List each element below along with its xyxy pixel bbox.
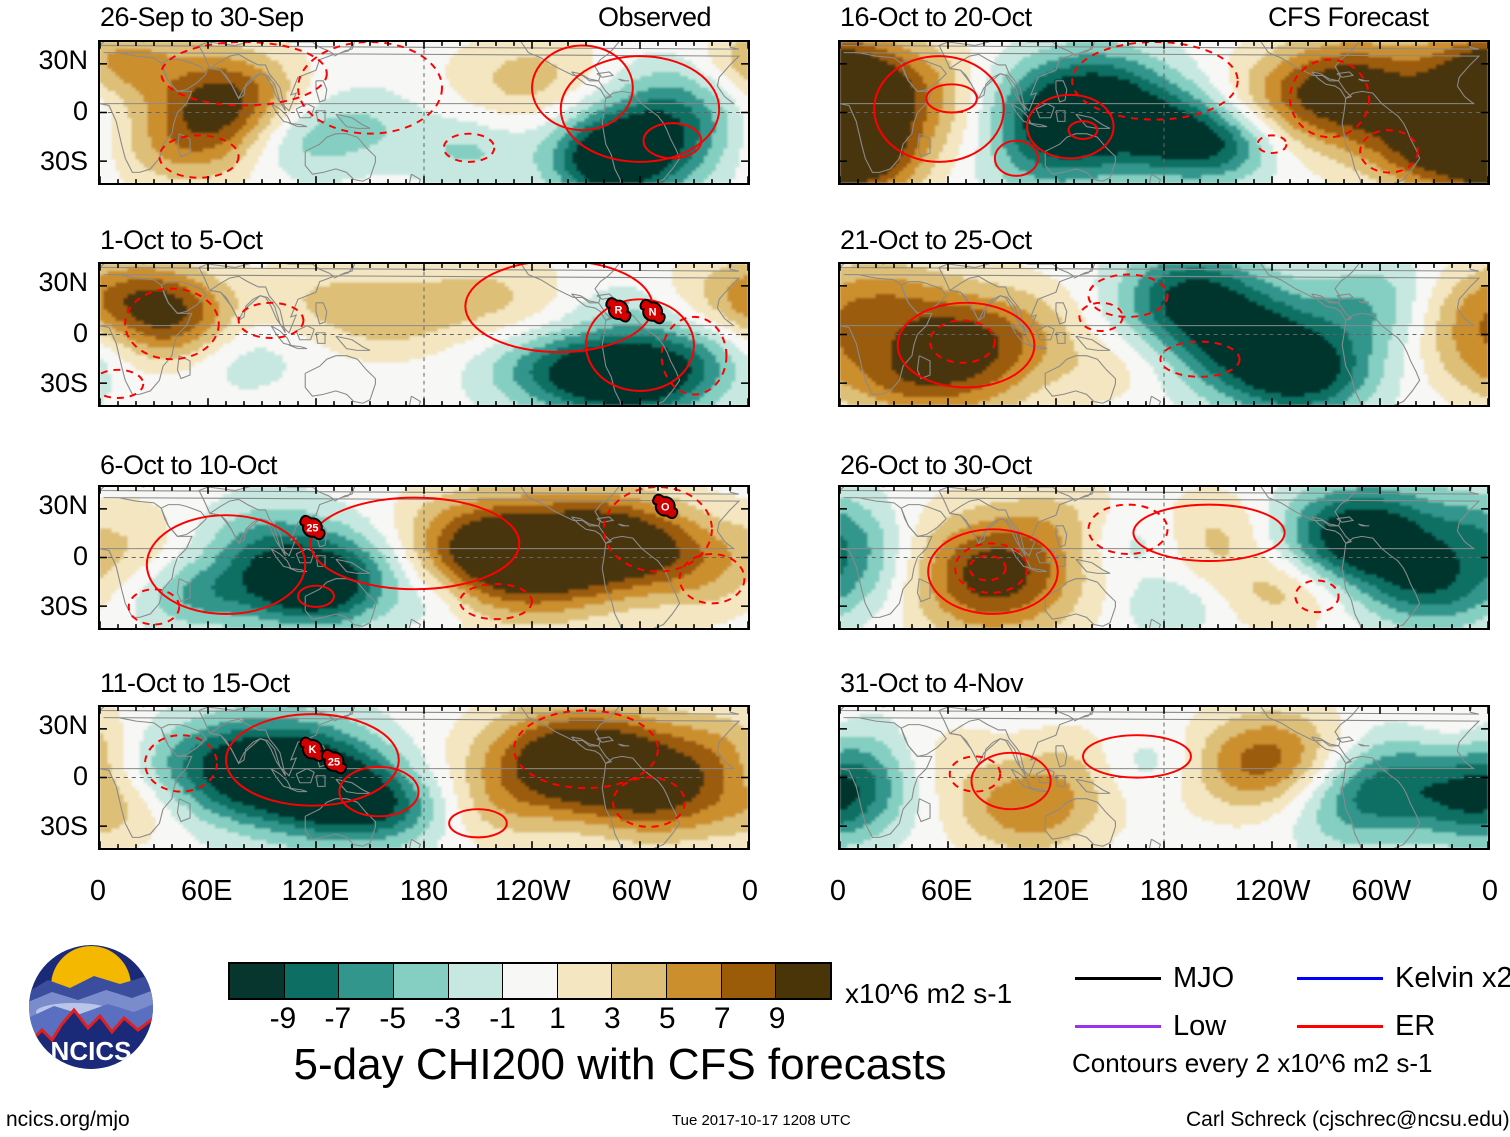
y-axis-tick-label: 0	[0, 761, 88, 792]
map-cfs-3[interactable]	[838, 485, 1490, 630]
storm-label: 25	[306, 523, 318, 535]
x-axis-tick-label: 120W	[1213, 875, 1333, 908]
y-axis-tick-label: 0	[0, 541, 88, 572]
contour-interval-note: Contours every 2 x10^6 m2 s-1	[1072, 1048, 1432, 1079]
x-axis-tick-label: 180	[1104, 875, 1224, 908]
colorbar-swatch	[449, 964, 504, 998]
storm-label: R	[614, 305, 622, 317]
colorbar-units-label: x10^6 m2 s-1	[845, 978, 1012, 1010]
legend-label: Low	[1173, 1010, 1226, 1043]
y-axis-tick-label: 30N	[0, 45, 88, 76]
storm-label: O	[661, 501, 669, 513]
map-obs-4[interactable]: K25	[98, 705, 750, 850]
x-axis-tick-label: 60E	[887, 875, 1007, 908]
y-axis-tick-label: 0	[0, 318, 88, 349]
x-axis-tick-label: 120W	[473, 875, 593, 908]
colorbar-swatch	[667, 964, 722, 998]
colorbar-tick-label: 3	[604, 1002, 621, 1036]
colorbar-tick-label: -9	[270, 1002, 297, 1036]
legend-item-mjo: MJO	[1075, 962, 1234, 995]
colorbar-swatch	[230, 964, 285, 998]
ncics-logo: NCICS	[28, 944, 154, 1070]
legend-item-er: ER	[1297, 1010, 1435, 1043]
x-axis-tick-label: 120E	[995, 875, 1115, 908]
y-axis-tick-label: 30S	[0, 811, 88, 842]
panel-title: 26-Sep to 30-Sep	[100, 2, 304, 33]
map-cfs-4[interactable]	[838, 705, 1490, 850]
map-canvas	[840, 707, 1488, 848]
colorbar-swatch	[339, 964, 394, 998]
footer-url[interactable]: ncics.org/mjo	[6, 1108, 130, 1132]
main-title: 5-day CHI200 with CFS forecasts	[225, 1040, 1015, 1090]
legend-line-swatch	[1075, 977, 1161, 980]
panel-title: 31-Oct to 4-Nov	[840, 668, 1023, 699]
colorbar-tick-label: -1	[489, 1002, 516, 1036]
colorbar-tick-label: 9	[769, 1002, 786, 1036]
colorbar-swatch	[722, 964, 777, 998]
map-cfs-1[interactable]	[838, 40, 1490, 185]
colorbar-tick-label: 7	[714, 1002, 731, 1036]
column-header-cfs: CFS Forecast	[1268, 2, 1429, 33]
map-canvas: K25	[100, 707, 748, 848]
colorbar-swatch	[558, 964, 613, 998]
y-axis-tick-label: 30N	[0, 490, 88, 521]
x-axis-tick-label: 60E	[147, 875, 267, 908]
panel-title: 11-Oct to 15-Oct	[100, 668, 290, 699]
footer-timestamp: Tue 2017-10-17 1208 UTC	[672, 1112, 851, 1129]
map-obs-2[interactable]: RN	[98, 262, 750, 407]
colorbar-swatch	[285, 964, 340, 998]
legend-line-swatch	[1297, 977, 1383, 980]
x-axis-tick-label: 180	[364, 875, 484, 908]
storm-label: K	[308, 744, 316, 756]
footer-author: Carl Schreck (cjschrec@ncsu.edu)	[1186, 1108, 1510, 1132]
map-canvas	[100, 42, 748, 183]
y-axis-tick-label: 30S	[0, 146, 88, 177]
x-axis-tick-label: 60W	[1321, 875, 1441, 908]
colorbar-tick-labels: -9-7-5-3-113579	[228, 1002, 832, 1038]
legend-item-low: Low	[1075, 1010, 1226, 1043]
map-obs-3[interactable]: 25O	[98, 485, 750, 630]
map-cfs-2[interactable]	[838, 262, 1490, 407]
y-axis-tick-label: 30N	[0, 267, 88, 298]
colorbar-swatch	[503, 964, 558, 998]
map-canvas	[840, 264, 1488, 405]
legend-line-swatch	[1075, 1025, 1161, 1028]
map-canvas: 25O	[100, 487, 748, 628]
legend-label: Kelvin x2	[1395, 962, 1510, 995]
y-axis-tick-label: 30N	[0, 710, 88, 741]
panel-title: 6-Oct to 10-Oct	[100, 450, 277, 481]
colorbar-swatch	[612, 964, 667, 998]
colorbar-tick-label: 1	[549, 1002, 566, 1036]
storm-label: N	[649, 307, 657, 319]
colorbar-tick-label: -7	[324, 1002, 351, 1036]
storm-label: 25	[328, 757, 340, 769]
y-axis-tick-label: 0	[0, 96, 88, 127]
legend-label: MJO	[1173, 962, 1234, 995]
panel-title: 21-Oct to 25-Oct	[840, 225, 1032, 256]
map-canvas	[840, 487, 1488, 628]
colorbar-swatch	[394, 964, 449, 998]
colorbar-tick-label: -5	[379, 1002, 406, 1036]
y-axis-tick-label: 30S	[0, 368, 88, 399]
logo-graphic: NCICS	[28, 944, 154, 1070]
y-axis-tick-label: 30S	[0, 591, 88, 622]
colorbar-tick-label: -3	[434, 1002, 461, 1036]
colorbar-tick-label: 5	[659, 1002, 676, 1036]
map-canvas	[840, 42, 1488, 183]
colorbar-swatch	[776, 964, 830, 998]
column-header-observed: Observed	[598, 2, 711, 33]
legend-item-kelvin-x2: Kelvin x2	[1297, 962, 1510, 995]
panel-title: 1-Oct to 5-Oct	[100, 225, 263, 256]
x-axis-tick-label: 0	[778, 875, 898, 908]
panel-title: 16-Oct to 20-Oct	[840, 2, 1032, 33]
colorbar[interactable]	[228, 962, 832, 1000]
map-obs-1[interactable]	[98, 40, 750, 185]
map-canvas: RN	[100, 264, 748, 405]
legend-label: ER	[1395, 1010, 1435, 1043]
x-axis-tick-label: 60W	[581, 875, 701, 908]
logo-text: NCICS	[51, 1036, 132, 1066]
contour-legend: MJOKelvin x2LowER	[1075, 962, 1495, 1062]
x-axis-tick-label: 0	[38, 875, 158, 908]
x-axis-tick-label: 120E	[255, 875, 375, 908]
x-axis-tick-label: 0	[1430, 875, 1510, 908]
legend-line-swatch	[1297, 1025, 1383, 1028]
panel-title: 26-Oct to 30-Oct	[840, 450, 1032, 481]
